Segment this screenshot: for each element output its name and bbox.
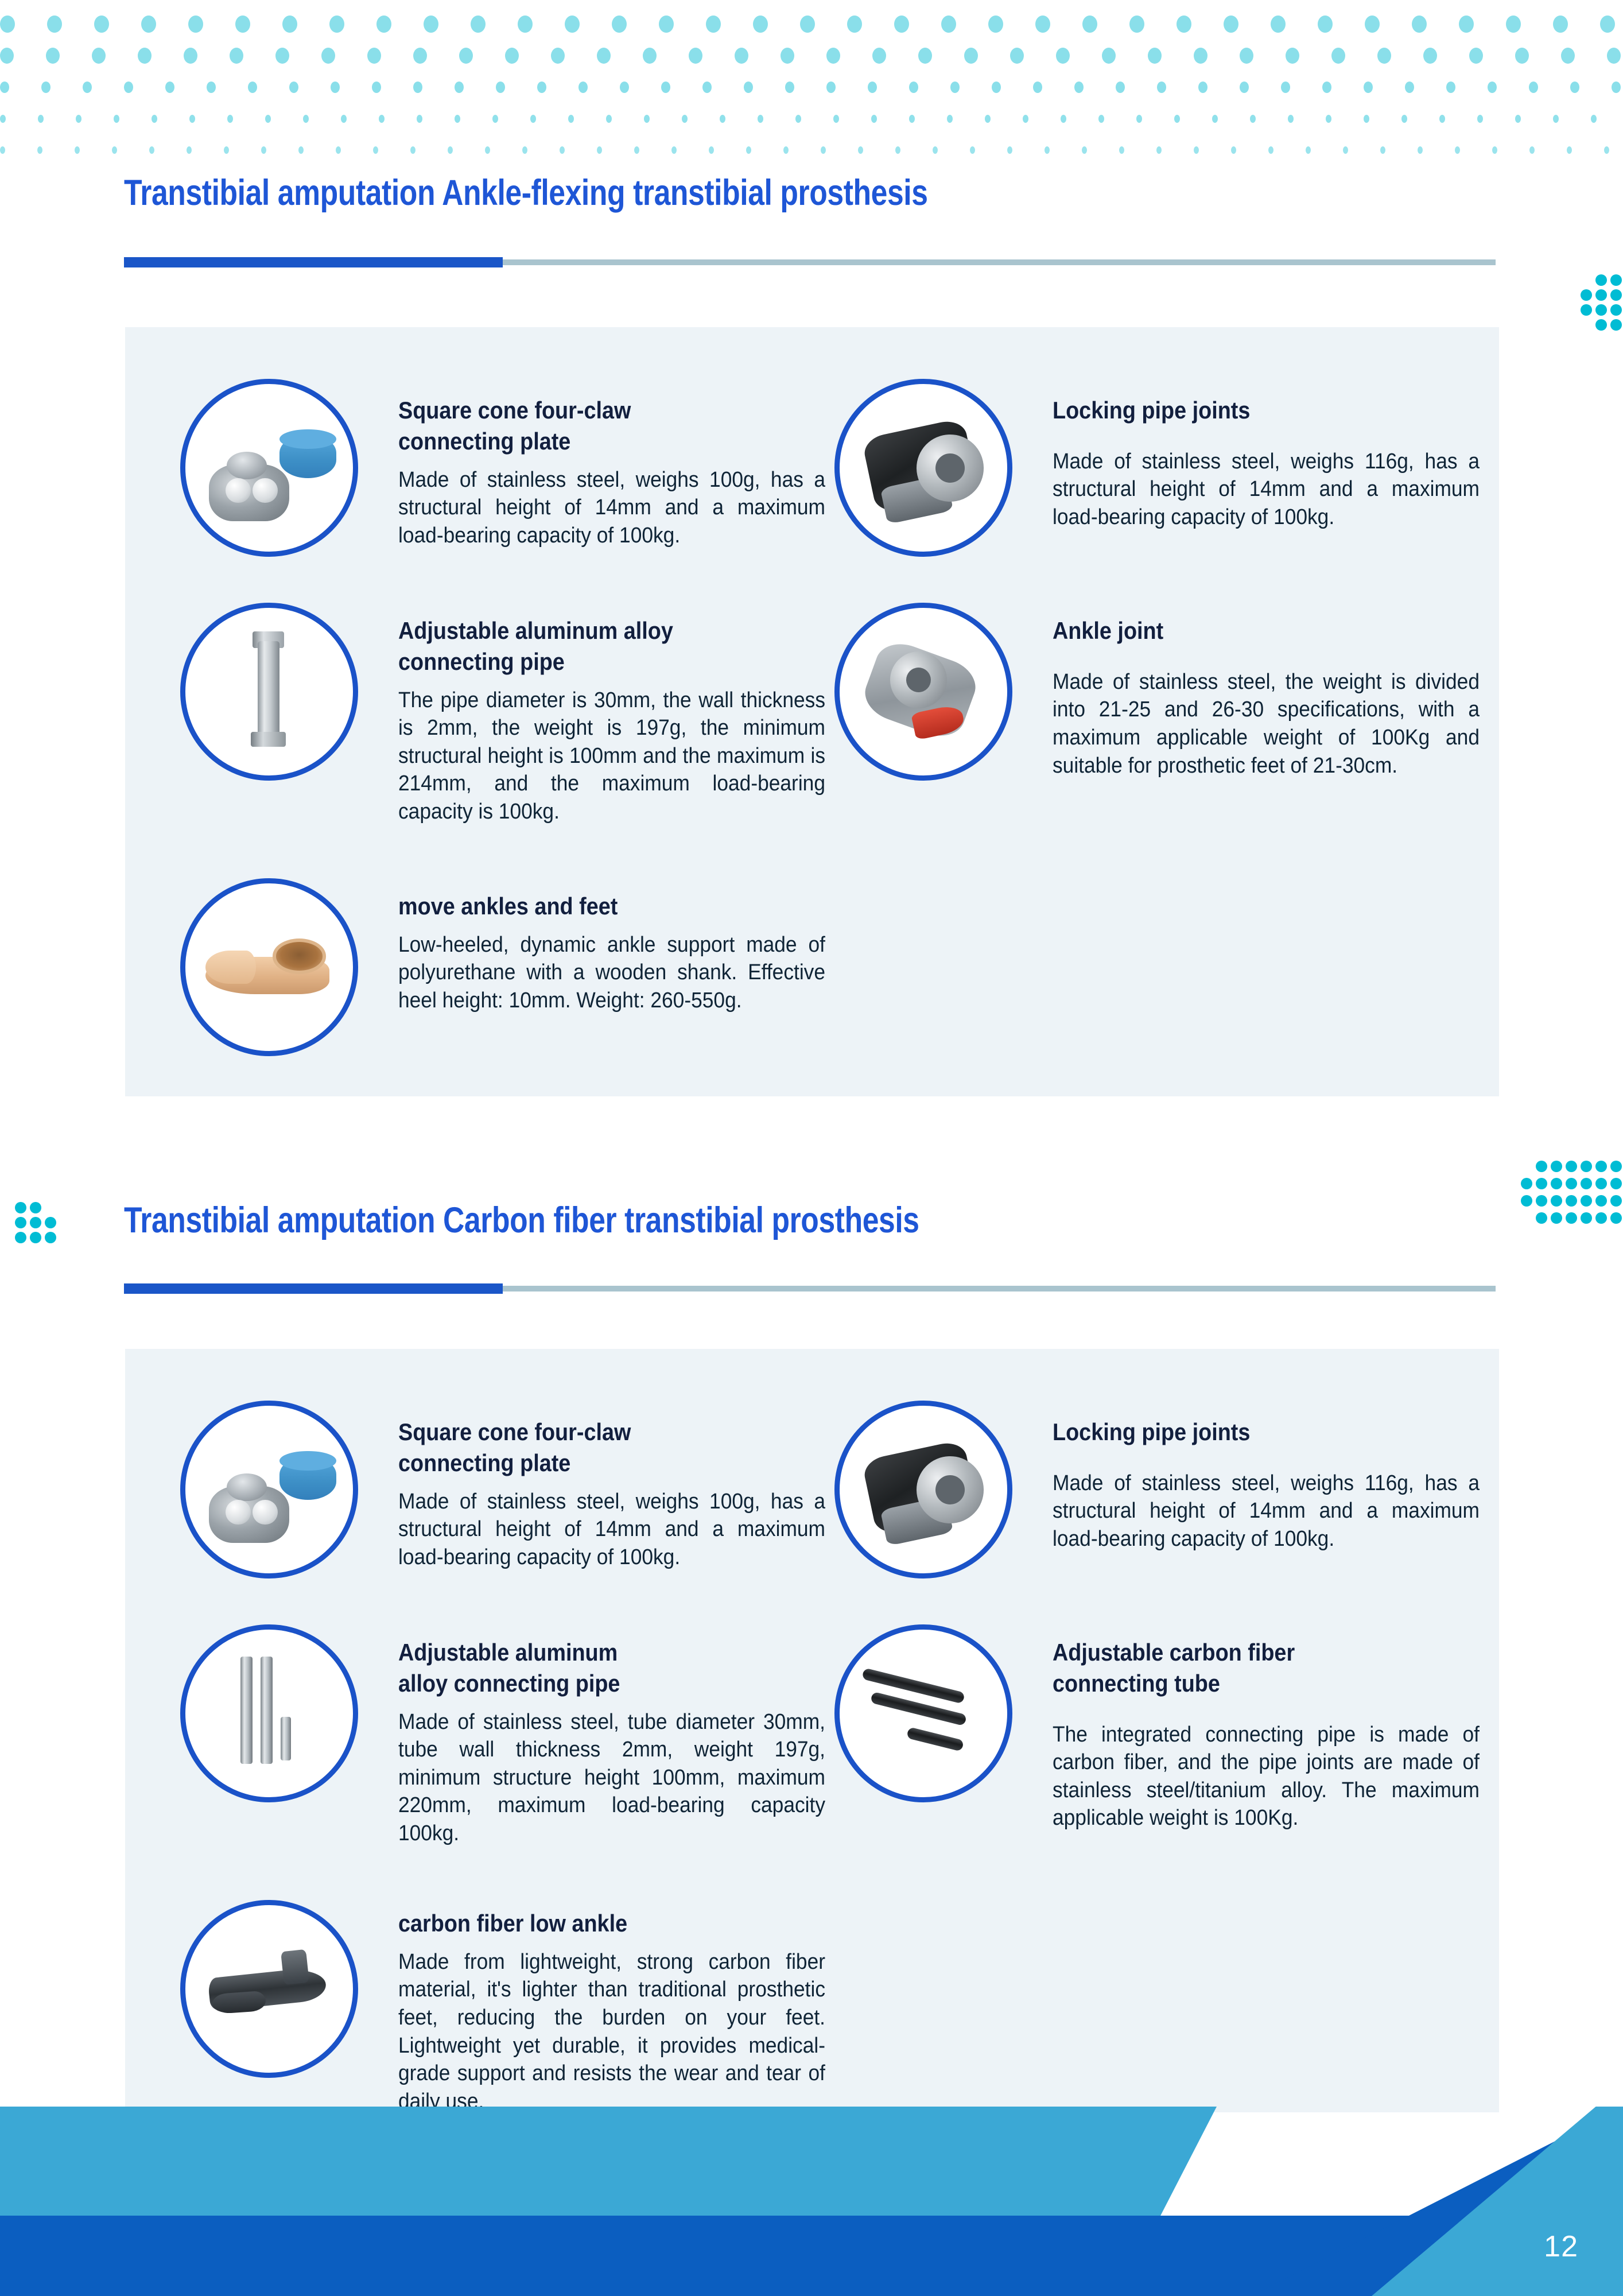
feature-item: Locking pipe joints Made of stainless st… — [834, 379, 1477, 568]
decorative-dot — [1318, 15, 1333, 33]
feature-item: Square cone four-claw connecting plate M… — [180, 379, 823, 568]
feature-item: carbon fiber low ankle Made from lightwe… — [180, 1900, 823, 2107]
decorative-dot — [909, 82, 918, 93]
decorative-dot — [1365, 15, 1380, 33]
decorative-dot — [0, 15, 15, 33]
decorative-dot — [37, 146, 42, 154]
decorative-dot — [1536, 1161, 1547, 1172]
decorative-dot — [1116, 82, 1125, 93]
decorative-dot — [188, 15, 203, 33]
decorative-dot — [970, 146, 975, 154]
decorative-dot — [1566, 1161, 1577, 1172]
decorative-dot — [1570, 82, 1579, 93]
decorative-dot — [597, 146, 602, 154]
decorative-dot — [1023, 115, 1028, 123]
decorative-dot — [141, 15, 156, 33]
decorative-dot — [275, 48, 289, 64]
dot-row — [0, 71, 1623, 103]
decorative-dot — [1061, 115, 1066, 123]
decorative-dot — [1364, 115, 1369, 123]
decorative-dot — [735, 48, 748, 64]
page-number: 12 — [1544, 2229, 1578, 2264]
feature-item-description: Made of stainless steel, tube diameter 3… — [398, 1708, 825, 1848]
decorative-dot — [781, 48, 794, 64]
decorative-dot — [1551, 1161, 1562, 1172]
decorative-dot — [1240, 82, 1249, 93]
decorative-dot — [1136, 115, 1142, 123]
feature-item-title: move ankles and feet — [398, 891, 811, 922]
decorative-dot — [1566, 1178, 1577, 1189]
decorative-dot — [1326, 115, 1331, 123]
top-dot-pattern-decoration — [0, 8, 1623, 152]
decorative-dot — [1529, 146, 1535, 154]
decorative-dot — [1477, 115, 1483, 123]
decorative-dot — [1082, 146, 1087, 154]
decorative-dot — [1102, 48, 1116, 64]
feature-item-title: Square cone four-claw connecting plate — [398, 1417, 811, 1479]
feature-item-title: Square cone four-claw connecting plate — [398, 395, 811, 457]
decorative-dot — [800, 15, 815, 33]
decorative-dot — [92, 48, 106, 64]
decorative-dot — [248, 82, 257, 93]
decorative-dot — [1198, 82, 1207, 93]
decorative-dot — [620, 82, 629, 93]
decorative-dot — [41, 82, 51, 93]
decorative-dot — [1536, 1178, 1547, 1189]
decorative-dot — [138, 48, 152, 64]
decorative-dot — [1286, 48, 1299, 64]
decorative-dot — [1343, 146, 1348, 154]
decorative-dot — [1581, 1195, 1592, 1207]
decorative-dot — [1129, 15, 1144, 33]
decorative-dot — [0, 82, 9, 93]
decorative-dot — [1156, 146, 1162, 154]
feature-item-description: Made of stainless steel, weighs 100g, ha… — [398, 1488, 825, 1572]
decorative-dot — [518, 15, 533, 33]
decorative-dot — [1056, 48, 1070, 64]
decorative-dot — [1595, 1195, 1607, 1207]
decorative-dot — [0, 146, 5, 154]
decorative-dot — [1610, 1161, 1622, 1172]
decorative-dot — [568, 115, 574, 123]
decorative-dot — [455, 115, 460, 123]
decorative-dot — [1600, 15, 1615, 33]
decorative-dot — [1581, 1212, 1592, 1224]
square-cone-four-claw-plate-photo — [180, 379, 358, 557]
decorative-dot — [1194, 48, 1207, 64]
decorative-dot — [1529, 82, 1538, 93]
feature-item-title: Adjustable carbon fiber connecting tube — [1053, 1637, 1466, 1699]
decorative-dot — [83, 82, 92, 93]
decorative-dot — [1412, 15, 1427, 33]
decorative-dot — [459, 48, 473, 64]
square-cone-four-claw-plate-photo — [180, 1401, 358, 1578]
feature-item-title: Adjustable aluminum alloy connecting pip… — [398, 615, 811, 677]
decorative-dot — [702, 82, 712, 93]
decorative-dot — [373, 146, 378, 154]
decorative-dot — [114, 115, 119, 123]
decorative-dot — [1148, 48, 1162, 64]
decorative-dot — [410, 146, 416, 154]
section-rule-accent-1 — [124, 257, 503, 267]
decorative-dot — [744, 82, 753, 93]
decorative-dot — [871, 115, 877, 123]
decorative-dot — [1551, 1178, 1562, 1189]
decorative-dot — [1455, 146, 1460, 154]
decorative-dot — [1459, 15, 1474, 33]
decorative-dot — [753, 15, 768, 33]
decorative-dot — [918, 48, 932, 64]
decorative-dot — [1098, 115, 1104, 123]
decorative-dot — [331, 82, 340, 93]
decorative-dot — [1074, 82, 1084, 93]
dot-row — [0, 8, 1623, 40]
decorative-dot — [496, 82, 505, 93]
decorative-dot — [1488, 82, 1497, 93]
decorative-dot — [1469, 48, 1483, 64]
feature-item-description: The integrated connecting pipe is made o… — [1053, 1721, 1480, 1833]
aluminum-alloy-connecting-pipe-photo — [180, 603, 358, 781]
decorative-dot — [682, 115, 688, 123]
decorative-dot — [1607, 48, 1621, 64]
decorative-dot — [985, 115, 991, 123]
footer-light-wedge-right — [1372, 2107, 1623, 2296]
page-footer: 12 — [0, 2107, 1623, 2296]
decorative-dot — [894, 15, 909, 33]
decorative-dot — [1331, 48, 1345, 64]
decorative-dot — [1250, 115, 1256, 123]
decorative-dot — [537, 82, 546, 93]
decorative-dot — [551, 48, 565, 64]
section-panel-1: Square cone four-claw connecting plate M… — [125, 327, 1499, 1096]
decorative-dot — [1322, 82, 1331, 93]
decorative-dot — [1566, 1195, 1577, 1207]
decorative-dot — [1231, 146, 1236, 154]
decorative-dot — [826, 48, 840, 64]
decorative-dot — [112, 146, 117, 154]
decorative-dot — [46, 48, 60, 64]
decorative-dot — [671, 146, 677, 154]
decorative-dot — [372, 82, 381, 93]
decorative-dot — [1240, 48, 1253, 64]
decorative-dot — [38, 115, 44, 123]
decorative-dot — [1082, 15, 1097, 33]
decorative-dot — [47, 15, 62, 33]
decorative-dot — [659, 15, 674, 33]
decorative-dot — [565, 15, 580, 33]
decorative-dot — [1492, 146, 1497, 154]
decorative-dot — [1595, 1178, 1607, 1189]
decorative-dot — [1595, 1212, 1607, 1224]
decorative-dot — [298, 146, 304, 154]
dot-cluster-right-upper-decoration — [1570, 274, 1622, 335]
feature-item: Locking pipe joints Made of stainless st… — [834, 1401, 1477, 1590]
decorative-dot — [597, 48, 611, 64]
decorative-dot — [289, 82, 298, 93]
decorative-dot — [1604, 146, 1609, 154]
decorative-dot — [379, 115, 385, 123]
decorative-dot — [485, 146, 490, 154]
feature-item: Ankle joint Made of stainless steel, the… — [834, 603, 1477, 832]
decorative-dot — [858, 146, 863, 154]
feature-item-description: Low-heeled, dynamic ankle support made o… — [398, 931, 825, 1015]
decorative-dot — [1401, 115, 1407, 123]
section-title-carbon-fiber: Transtibial amputation Carbon fiber tran… — [124, 1200, 919, 1241]
decorative-dot — [1551, 1212, 1562, 1224]
dot-row — [0, 134, 1623, 166]
section-rule-accent-2 — [124, 1283, 503, 1294]
dot-row — [0, 103, 1623, 134]
decorative-dot — [1610, 1195, 1622, 1207]
decorative-dot — [1157, 82, 1166, 93]
decorative-dot — [1045, 146, 1050, 154]
decorative-dot — [1567, 146, 1572, 154]
decorative-dot — [321, 48, 335, 64]
decorative-dot — [872, 48, 886, 64]
decorative-dot — [826, 82, 836, 93]
decorative-dot — [1035, 15, 1050, 33]
decorative-dot — [522, 146, 527, 154]
dot-cluster-left-lower-decoration — [9, 1202, 61, 1262]
feature-item: Square cone four-claw connecting plate M… — [180, 1401, 823, 1590]
decorative-dot — [224, 146, 229, 154]
decorative-dot — [1553, 15, 1568, 33]
decorative-dot — [909, 115, 915, 123]
carbon-fiber-connecting-tube-photo — [834, 1624, 1012, 1802]
decorative-dot — [706, 15, 721, 33]
decorative-dot — [189, 115, 195, 123]
decorative-dot — [709, 146, 714, 154]
decorative-dot — [1439, 115, 1445, 123]
feature-item-description: Made of stainless steel, weighs 100g, ha… — [398, 466, 825, 550]
decorative-dot — [1515, 115, 1521, 123]
decorative-dot — [992, 82, 1001, 93]
decorative-dot — [1212, 115, 1218, 123]
decorative-dot — [265, 115, 271, 123]
decorative-dot — [833, 115, 839, 123]
decorative-dot — [821, 146, 826, 154]
feature-item-description: Made of stainless steel, weighs 116g, ha… — [1053, 1469, 1480, 1553]
decorative-dot — [560, 146, 565, 154]
decorative-dot — [1566, 1212, 1577, 1224]
decorative-dot — [471, 15, 486, 33]
decorative-dot — [329, 15, 344, 33]
decorative-dot — [261, 146, 266, 154]
decorative-dot — [941, 15, 956, 33]
decorative-dot — [1119, 146, 1124, 154]
decorative-dot — [634, 146, 639, 154]
decorative-dot — [1377, 48, 1391, 64]
feature-item-description: Made from lightweight, strong carbon fib… — [398, 1948, 825, 2116]
decorative-dot — [578, 82, 588, 93]
decorative-dot — [1306, 146, 1311, 154]
decorative-dot — [424, 15, 438, 33]
decorative-dot — [1364, 82, 1373, 93]
decorative-dot — [785, 82, 794, 93]
decorative-dot — [152, 115, 157, 123]
locking-pipe-joint-photo — [834, 379, 1012, 557]
decorative-dot — [1194, 146, 1199, 154]
decorative-dot — [149, 146, 154, 154]
decorative-dot — [1281, 82, 1290, 93]
decorative-dot — [0, 48, 14, 64]
decorative-dot — [1446, 82, 1455, 93]
decorative-dot — [1423, 48, 1437, 64]
decorative-dot — [282, 15, 297, 33]
decorative-dot — [689, 48, 702, 64]
document-page: Transtibial amputation Ankle-flexing tra… — [0, 0, 1623, 2296]
feature-item-title: carbon fiber low ankle — [398, 1908, 811, 1939]
decorative-dot — [783, 146, 789, 154]
decorative-dot — [950, 82, 960, 93]
decorative-dot — [720, 115, 725, 123]
decorative-dot — [1591, 115, 1597, 123]
decorative-dot — [1177, 15, 1191, 33]
decorative-dot — [868, 82, 877, 93]
decorative-dot — [1536, 1195, 1547, 1207]
feature-item-title: Ankle joint — [1053, 615, 1466, 646]
decorative-dot — [1268, 146, 1273, 154]
dot-row — [0, 40, 1623, 71]
decorative-dot — [413, 82, 422, 93]
decorative-dot — [530, 115, 536, 123]
decorative-dot — [94, 15, 109, 33]
decorative-dot — [1561, 48, 1575, 64]
decorative-dot — [1553, 115, 1559, 123]
dot-grid-right-lower-decoration — [1521, 1161, 1623, 1238]
decorative-dot — [1174, 115, 1180, 123]
decorative-dot — [1380, 146, 1385, 154]
decorative-dot — [1612, 82, 1621, 93]
feature-item-description: The pipe diameter is 30mm, the wall thic… — [398, 687, 825, 826]
decorative-dot — [1610, 1212, 1622, 1224]
decorative-dot — [1010, 48, 1024, 64]
prosthetic-foot-photo — [180, 878, 358, 1056]
decorative-dot — [492, 115, 498, 123]
decorative-dot — [230, 48, 243, 64]
section-title-ankle-flexing: Transtibial amputation Ankle-flexing tra… — [124, 172, 928, 214]
decorative-dot — [847, 15, 862, 33]
decorative-dot — [1595, 1161, 1607, 1172]
decorative-dot — [227, 115, 233, 123]
decorative-dot — [124, 82, 133, 93]
decorative-dot — [1610, 1178, 1622, 1189]
feature-item: move ankles and feet Low-heeled, dynamic… — [180, 878, 823, 1068]
decorative-dot — [606, 115, 612, 123]
decorative-dot — [895, 146, 900, 154]
carbon-fiber-low-ankle-foot-photo — [180, 1900, 358, 2078]
decorative-dot — [988, 15, 1003, 33]
decorative-dot — [76, 115, 81, 123]
decorative-dot — [413, 48, 427, 64]
decorative-dot — [1288, 115, 1294, 123]
decorative-dot — [947, 115, 953, 123]
feature-item-description: Made of stainless steel, the weight is d… — [1053, 668, 1480, 780]
feature-item: Adjustable aluminum alloy connecting pip… — [180, 1624, 823, 1854]
decorative-dot — [367, 48, 381, 64]
decorative-dot — [1271, 15, 1286, 33]
decorative-dot — [448, 146, 453, 154]
decorative-dot — [1581, 1161, 1592, 1172]
decorative-dot — [0, 115, 6, 123]
decorative-dot — [644, 115, 650, 123]
decorative-dot — [1515, 48, 1529, 64]
ankle-joint-photo — [834, 603, 1012, 781]
decorative-dot — [1521, 1178, 1532, 1189]
decorative-dot — [235, 15, 250, 33]
feature-item: Adjustable aluminum alloy connecting pip… — [180, 603, 823, 832]
decorative-dot — [661, 82, 670, 93]
decorative-dot — [303, 115, 309, 123]
decorative-dot — [612, 15, 627, 33]
decorative-dot — [933, 146, 938, 154]
decorative-dot — [184, 48, 197, 64]
feature-item-title: Locking pipe joints — [1053, 1417, 1466, 1448]
decorative-dot — [207, 82, 216, 93]
decorative-dot — [336, 146, 341, 154]
feature-item-title: Adjustable aluminum alloy connecting pip… — [398, 1637, 811, 1699]
decorative-dot — [643, 48, 657, 64]
decorative-dot — [75, 146, 80, 154]
decorative-dot — [1581, 1178, 1592, 1189]
aluminum-alloy-connecting-pipe-photo — [180, 1624, 358, 1802]
decorative-dot — [1033, 82, 1042, 93]
decorative-dot — [1551, 1195, 1562, 1207]
decorative-dot — [165, 82, 174, 93]
locking-pipe-joint-photo — [834, 1401, 1012, 1578]
decorative-dot — [1405, 82, 1414, 93]
decorative-dot — [341, 115, 347, 123]
decorative-dot — [1418, 146, 1423, 154]
decorative-dot — [417, 115, 422, 123]
section-panel-2: Square cone four-claw connecting plate M… — [125, 1349, 1499, 2112]
decorative-dot — [187, 146, 192, 154]
decorative-dot — [964, 48, 978, 64]
footer-decorative-shapes — [0, 2107, 1623, 2296]
decorative-dot — [758, 115, 763, 123]
feature-item: Adjustable carbon fiber connecting tube … — [834, 1624, 1477, 1854]
decorative-dot — [1224, 15, 1238, 33]
decorative-dot — [376, 15, 391, 33]
decorative-dot — [1506, 15, 1521, 33]
feature-item-title: Locking pipe joints — [1053, 395, 1466, 426]
decorative-dot — [1536, 1212, 1547, 1224]
decorative-dot — [795, 115, 801, 123]
decorative-dot — [455, 82, 464, 93]
decorative-dot — [746, 146, 751, 154]
decorative-dot — [505, 48, 519, 64]
decorative-dot — [1007, 146, 1012, 154]
decorative-dot — [1521, 1195, 1532, 1207]
feature-item-description: Made of stainless steel, weighs 116g, ha… — [1053, 448, 1480, 532]
